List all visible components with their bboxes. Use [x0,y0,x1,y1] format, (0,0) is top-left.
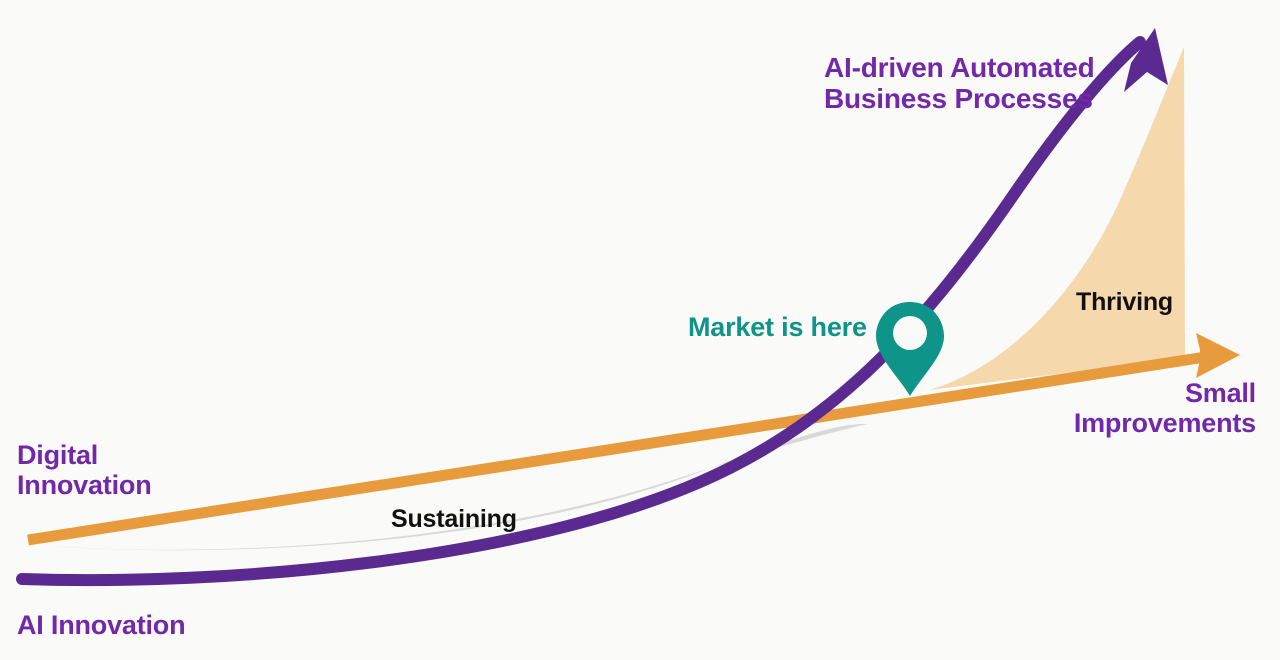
label-small-improvements: Small Improvements [1074,378,1256,438]
label-thriving: Thriving [1076,288,1173,316]
label-sustaining: Sustaining [391,505,517,533]
label-ai-innovation: AI Innovation [17,610,185,640]
label-market-is-here: Market is here [688,312,867,342]
arrow-up-icon [1124,28,1168,92]
ai-innovation-curve [22,42,1140,580]
label-digital-innovation: Digital Innovation [17,440,152,500]
label-ai-driven-automated-business-processes: AI-driven Automated Business Processes [824,52,1095,115]
map-pin-icon [876,302,944,396]
diagram-canvas: AI-driven Automated Business Processes M… [0,0,1280,660]
arrow-right-icon [1196,333,1240,378]
